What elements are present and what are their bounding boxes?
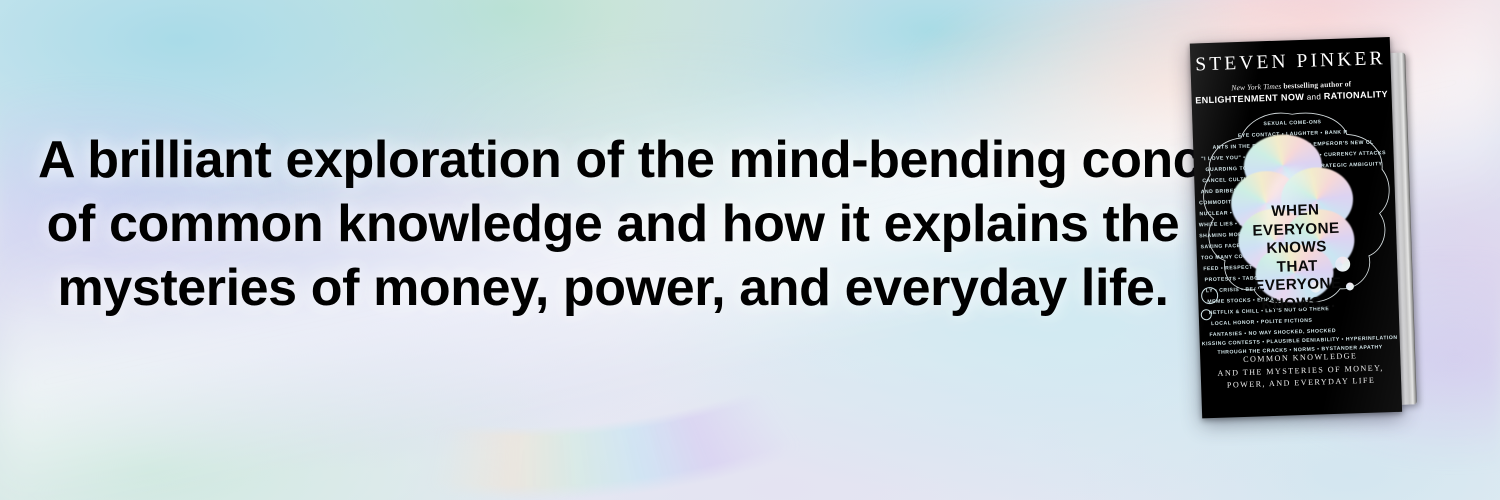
previous-title-joiner: and: [1304, 92, 1324, 102]
bubble-phrase-0: SEXUAL COME-ONS: [1263, 119, 1321, 127]
byline-rest: bestselling author of: [1281, 79, 1351, 90]
book-front-cover: STEVEN PINKER New York Times bestselling…: [1190, 37, 1402, 418]
book-cover-image: STEVEN PINKER New York Times bestselling…: [1190, 37, 1414, 422]
book-title: WHEN EVERYONE KNOWS THAT EVERYONE KNOWS.…: [1195, 199, 1399, 317]
previous-title-2: RATIONALITY: [1324, 89, 1389, 101]
headline-line-1: A brilliant exploration of the mind-bend…: [38, 128, 1188, 192]
promo-banner: A brilliant exploration of the mind-bend…: [0, 0, 1500, 500]
book-subtitle: COMMON KNOWLEDGE AND THE MYSTERIES OF MO…: [1200, 349, 1401, 393]
previous-title-1: ENLIGHTENMENT NOW: [1195, 92, 1304, 106]
headline: A brilliant exploration of the mind-bend…: [38, 128, 1188, 320]
headline-line-3: mysteries of money, power, and everyday …: [38, 256, 1188, 320]
thought-bubble: SEXUAL COME-ONS EYE CONTACT • LAUGHTER •…: [1192, 103, 1400, 359]
bubble-phrase-18: LOCAL HONOR • POLITE FICTIONS: [1211, 318, 1313, 327]
headline-line-2: of common knowledge and how it explains …: [38, 192, 1188, 256]
book-author-name: STEVEN PINKER: [1190, 49, 1391, 75]
byline-publication: New York Times: [1231, 82, 1281, 93]
